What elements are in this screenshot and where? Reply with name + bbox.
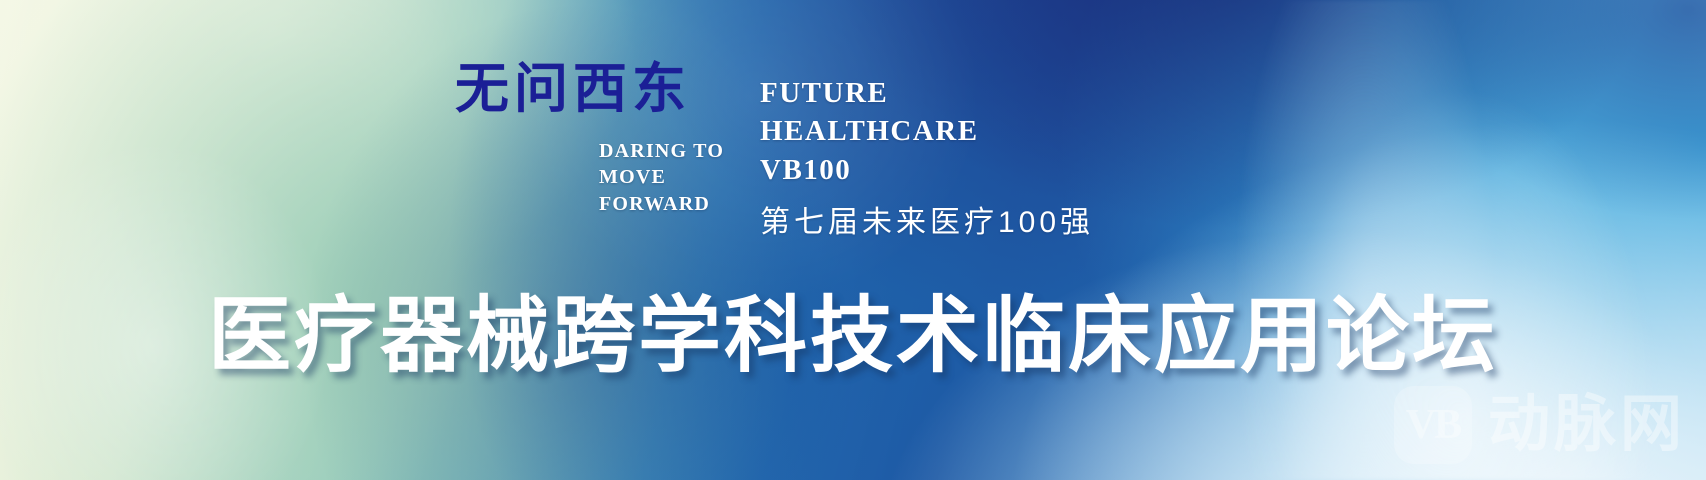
event-name-block: FUTURE HEALTHCARE VB100 第七届未来医疗100强 [760,74,1094,241]
event-english-line-2: HEALTHCARE [760,112,1094,150]
brand-tagline-line-1: DARING TO [599,138,724,164]
brand-tagline-line-2: MOVE [599,164,724,190]
vb-logo-icon: VB [1394,386,1472,464]
brand-block: 无问西东 DARING TO MOVE FORWARD [455,62,755,116]
event-english-line-1: FUTURE [760,74,1094,112]
publisher-name: 动脉网 [1488,394,1686,456]
event-english-name: FUTURE HEALTHCARE VB100 [760,74,1094,189]
event-english-line-3: VB100 [760,151,1094,189]
event-banner: 无问西东 DARING TO MOVE FORWARD FUTURE HEALT… [0,0,1706,480]
brand-english-tagline: DARING TO MOVE FORWARD [599,138,724,217]
brand-lockup: 无问西东 DARING TO MOVE FORWARD [455,62,755,116]
event-chinese-subtitle: 第七届未来医疗100强 [760,197,1094,241]
brand-tagline-line-3: FORWARD [599,191,724,217]
brand-chinese-name: 无问西东 [455,62,755,116]
publisher-watermark: VB 动脉网 [1394,386,1686,464]
main-title: 医疗器械跨学科技术临床应用论坛 [208,268,1498,388]
